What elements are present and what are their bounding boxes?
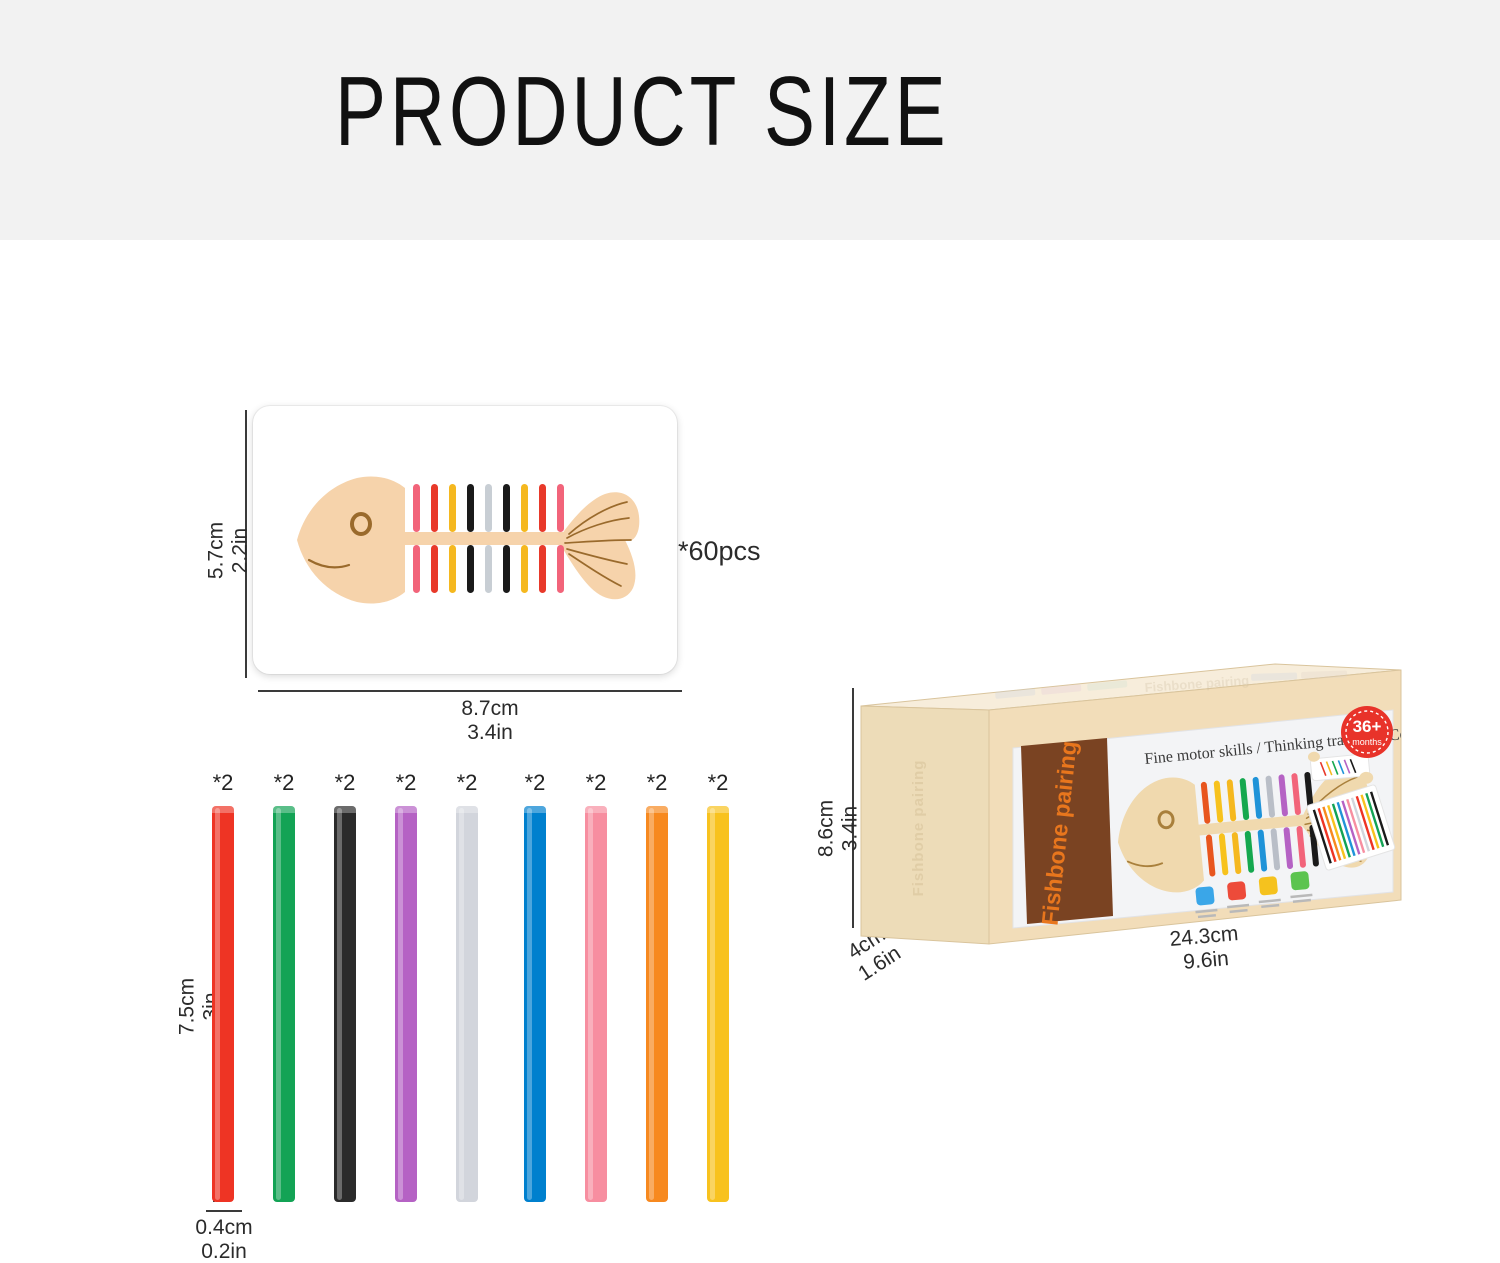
stick-black: *2: [334, 806, 356, 1202]
card-height-cm: 5.7cm: [204, 491, 228, 611]
stick-count-label: *2: [637, 770, 677, 796]
stick-count-label: *2: [203, 770, 243, 796]
stick-lightgray: *2: [456, 806, 478, 1202]
card-width-label: 8.7cm 3.4in: [410, 697, 570, 744]
stick-count-label: *2: [698, 770, 738, 796]
stick-highlight: [337, 808, 342, 1200]
page-title: PRODUCT SIZE: [335, 62, 950, 160]
stick-red: *2: [212, 806, 234, 1202]
stick-highlight: [215, 808, 220, 1200]
page-header: PRODUCT SIZE: [0, 0, 1500, 240]
stick-count-label: *2: [576, 770, 616, 796]
card-width-cm: 8.7cm: [410, 697, 570, 721]
stick-yellow: *2: [707, 806, 729, 1202]
feature-icon-red: [1227, 881, 1247, 901]
card-height-label: 5.7cm 2.2in: [204, 491, 251, 611]
stick-width-cm: 0.4cm: [164, 1216, 284, 1240]
stick-count-label: *2: [515, 770, 555, 796]
fishbone-card-art: [253, 406, 677, 674]
card-height-in: 2.2in: [228, 491, 252, 611]
stick-highlight: [459, 808, 464, 1200]
stick-green: *2: [273, 806, 295, 1202]
box-side-title: Fishbone pairing: [910, 760, 927, 897]
stick-count-label: *2: [264, 770, 304, 796]
stick-highlight: [398, 808, 403, 1200]
stick-highlight: [527, 808, 532, 1200]
feature-icon-yellow: [1258, 876, 1278, 896]
stick-width-measure-line: [206, 1210, 242, 1212]
card-width-in: 3.4in: [410, 721, 570, 745]
stick-highlight: [588, 808, 593, 1200]
fishbone-card: [253, 406, 677, 674]
product-package-art: Fishbone pairing Fishbone pairing Fine m…: [845, 648, 1445, 978]
stick-orange: *2: [646, 806, 668, 1202]
fish-tail: [559, 492, 639, 599]
stick-width-in: 0.2in: [164, 1240, 284, 1263]
fish-head: [297, 476, 405, 603]
stick-row: *2 *2 *2 *2 *2 *2 *2: [204, 806, 744, 1206]
stick-count-label: *2: [386, 770, 426, 796]
stick-count-label: *2: [325, 770, 365, 796]
card-quantity-label: *60pcs: [678, 536, 761, 566]
stick-purple: *2: [395, 806, 417, 1202]
card-width-measure-line: [258, 690, 682, 692]
stick-length-cm: 7.5cm: [175, 947, 199, 1067]
age-badge-value: 36+: [1353, 717, 1382, 736]
box-height-cm: 8.6cm: [814, 769, 838, 889]
stick-highlight: [276, 808, 281, 1200]
feature-icon-green: [1290, 871, 1310, 891]
stick-pink: *2: [585, 806, 607, 1202]
stick-width-label: 0.4cm 0.2in: [164, 1216, 284, 1263]
fish-spine: [401, 532, 565, 545]
age-badge: 36+ months: [1341, 706, 1393, 758]
stick-highlight: [649, 808, 654, 1200]
age-badge-unit: months: [1352, 737, 1382, 747]
feature-icon-blue: [1195, 886, 1215, 906]
stick-count-label: *2: [447, 770, 487, 796]
stick-blue: *2: [524, 806, 546, 1202]
stick-highlight: [710, 808, 715, 1200]
product-package: Fishbone pairing Fishbone pairing Fine m…: [845, 648, 1445, 978]
